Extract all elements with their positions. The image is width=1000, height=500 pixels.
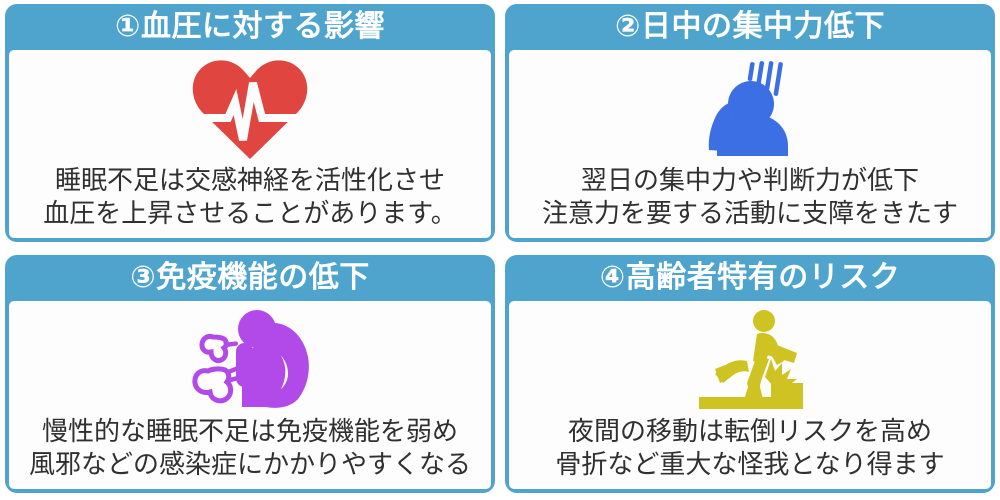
card-title-4: ④高齢者特有のリスク — [509, 255, 991, 301]
card-body-3: 慢性的な睡眠不足は免疫機能を弱め 風邪などの感染症にかかりやすくなる — [9, 301, 491, 489]
card-body-4: 夜間の移動は転倒リスクを高め 骨折など重大な怪我となり得ます — [509, 301, 991, 489]
card-title-2: ②日中の集中力低下 — [509, 4, 991, 50]
card-elderly-risk: ④高齢者特有のリスク — [505, 255, 995, 493]
card-text-line: 風邪などの感染症にかかりやすくなる — [29, 448, 471, 481]
heart-pulse-icon — [187, 56, 313, 160]
card-text-line: 睡眠不足は交感神経を活性化させ — [55, 164, 445, 197]
card-text-line: 夜間の移動は転倒リスクを高め — [568, 415, 932, 448]
card-text-line: 慢性的な睡眠不足は免疫機能を弱め — [42, 415, 458, 448]
card-title-1: ①血圧に対する影響 — [9, 4, 491, 50]
tired-person-icon — [696, 56, 804, 160]
card-text-line: 翌日の集中力や判断力が低下 — [581, 164, 919, 197]
card-text-1: 睡眠不足は交感神経を活性化させ 血圧を上昇させることがあります。 — [17, 160, 483, 234]
card-daytime-concentration: ②日中の集中力低下 翌日の集中力や判断力が低下 注意力 — [505, 4, 995, 242]
card-text-line: 注意力を要する活動に支障をきたす — [542, 197, 958, 230]
card-body-1: 睡眠不足は交感神経を活性化させ 血圧を上昇させることがあります。 — [9, 50, 491, 238]
card-grid: ①血圧に対する影響 睡眠不足は交感神経を活性化させ 血圧を上昇させることがありま… — [0, 0, 1000, 500]
card-text-line: 骨折など重大な怪我となり得ます — [555, 448, 944, 481]
coughing-person-icon — [180, 307, 320, 411]
card-text-2: 翌日の集中力や判断力が低下 注意力を要する活動に支障をきたす — [517, 160, 983, 234]
card-text-4: 夜間の移動は転倒リスクを高め 骨折など重大な怪我となり得ます — [517, 411, 983, 485]
card-text-line: 血圧を上昇させることがあります。 — [43, 197, 456, 230]
card-immune-function: ③免疫機能の低下 — [5, 255, 495, 493]
card-blood-pressure: ①血圧に対する影響 睡眠不足は交感神経を活性化させ 血圧を上昇させることがありま… — [5, 4, 495, 242]
card-title-3: ③免疫機能の低下 — [9, 255, 491, 301]
card-body-2: 翌日の集中力や判断力が低下 注意力を要する活動に支障をきたす — [509, 50, 991, 238]
falling-person-icon — [685, 307, 815, 411]
card-text-3: 慢性的な睡眠不足は免疫機能を弱め 風邪などの感染症にかかりやすくなる — [17, 411, 483, 485]
